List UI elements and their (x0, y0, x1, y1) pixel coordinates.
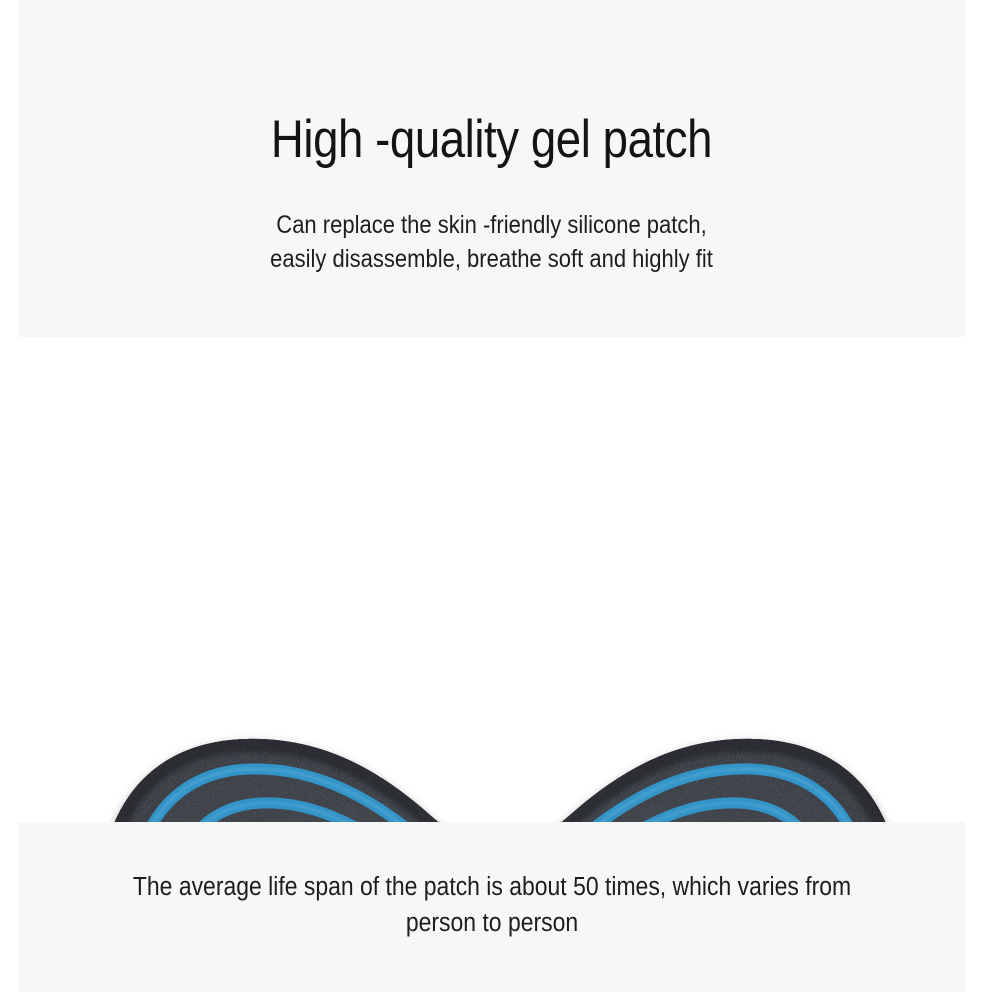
bottom-caption-panel: The average life span of the patch is ab… (18, 822, 965, 992)
patch-body-group (90, 729, 910, 822)
top-caption-panel: High -quality gel patch Can replace the … (18, 0, 965, 337)
page-subtitle: Can replace the skin -friendly silicone … (270, 208, 713, 277)
gel-patch-illustration (0, 337, 1000, 822)
product-detail-page: High -quality gel patch Can replace the … (0, 0, 1000, 1000)
page-title: High -quality gel patch (271, 112, 712, 168)
product-image-stage (0, 337, 1000, 822)
gel-patch-photo (0, 337, 1000, 822)
lifespan-caption: The average life span of the patch is ab… (132, 869, 850, 941)
